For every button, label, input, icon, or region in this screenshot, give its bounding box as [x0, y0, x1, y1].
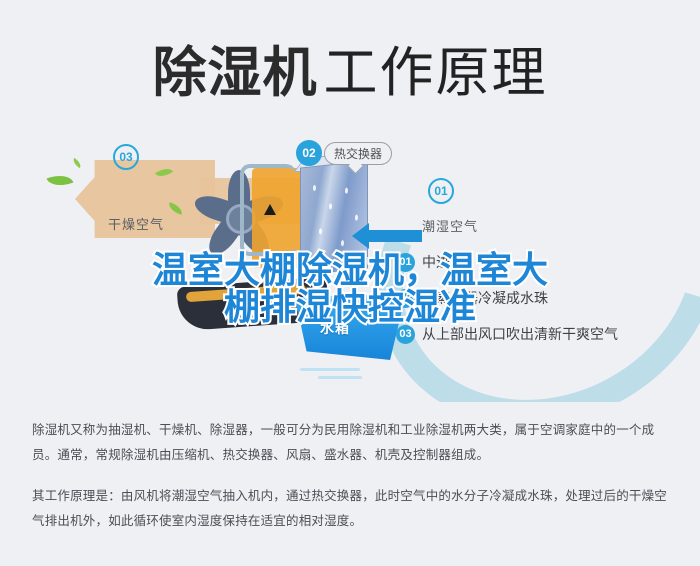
water-droplet — [345, 188, 348, 194]
water-droplet — [341, 240, 344, 246]
list-item: 03 从上部出风口吹出清新干爽空气 — [396, 324, 696, 344]
paragraph-2: 其工作原理是：由风机将潮湿空气抽入机内，通过热交换器，此时空气中的水分子冷凝成水… — [32, 484, 670, 534]
page-title: 除湿机工作原理 — [0, 28, 700, 107]
page-title-primary: 除湿机 — [153, 43, 318, 103]
list-item: 02 过蒸发器冷凝成水珠 — [396, 288, 696, 308]
dry-air-label: 干燥空气 — [108, 214, 164, 233]
step-list: 01 中进风 02 过蒸发器冷凝成水珠 03 从上部出风口吹出清新干爽空气 — [396, 252, 696, 360]
step-text-02: 过蒸发器冷凝成水珠 — [422, 288, 548, 308]
heat-exchanger-callout: 热交换器 — [324, 142, 392, 165]
airflow-line — [300, 368, 360, 371]
diagram-badge-03: 03 — [113, 144, 139, 170]
flow-arrow-up-icon — [264, 204, 276, 215]
intake-air-arrow-icon — [368, 230, 422, 242]
airflow-line — [318, 376, 362, 379]
diagram-badge-02: 02 — [296, 140, 322, 166]
paragraph-1: 除湿机又称为抽湿机、干燥机、除湿器，一般可分为民用除湿机和工业除湿机两大类，属于… — [32, 418, 670, 468]
water-droplet — [329, 203, 332, 209]
step-badge-02: 02 — [396, 289, 415, 308]
water-droplet — [355, 214, 358, 220]
water-droplet — [319, 228, 322, 234]
diagram-badge-01: 01 — [428, 178, 454, 204]
step-text-03: 从上部出风口吹出清新干爽空气 — [422, 324, 618, 344]
step-badge-01: 01 — [396, 253, 415, 272]
heat-exchanger-body — [300, 160, 368, 275]
step-badge-03: 03 — [396, 325, 415, 344]
leaf-icon — [71, 158, 83, 168]
page-title-secondary: 工作原理 — [324, 43, 548, 103]
humid-air-label: 潮湿空气 — [422, 216, 478, 235]
list-item: 01 中进风 — [396, 252, 696, 272]
water-tank-label: 水箱 — [320, 318, 350, 338]
leaf-icon — [47, 170, 74, 190]
poster-root: 除湿机工作原理 — [0, 0, 700, 566]
step-text-01: 中进风 — [422, 252, 464, 272]
water-droplet — [313, 185, 316, 191]
article-body: 除湿机又称为抽湿机、干燥机、除湿器，一般可分为民用除湿机和工业除湿机两大类，属于… — [32, 418, 670, 534]
